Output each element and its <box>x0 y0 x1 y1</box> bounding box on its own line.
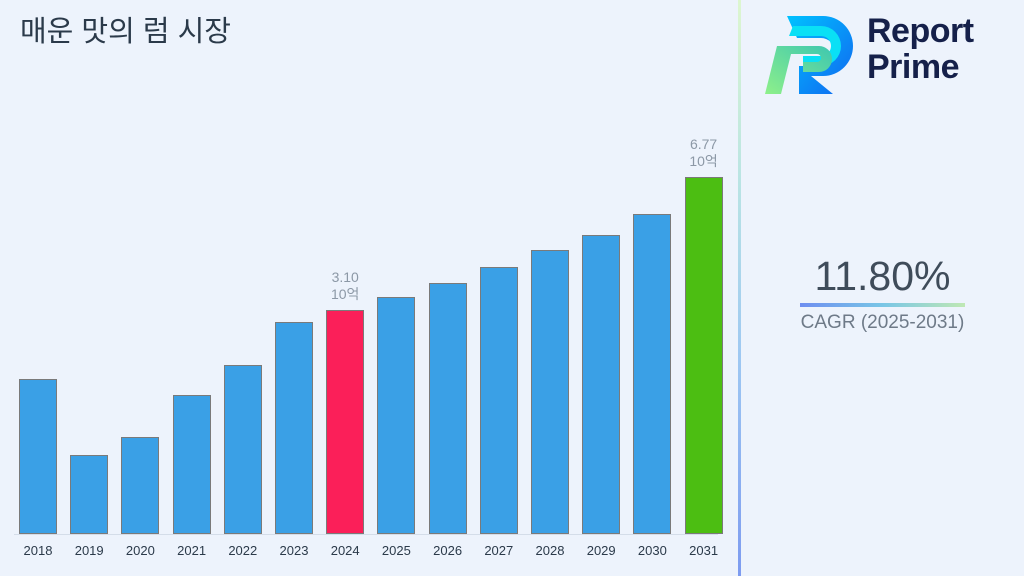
x-axis-line <box>14 534 718 535</box>
bar-2027[interactable] <box>480 267 518 534</box>
logo-line-2: Prime <box>867 49 974 85</box>
cagr-caption: CAGR (2025-2031) <box>741 312 1024 334</box>
bar-2018[interactable] <box>19 379 57 534</box>
bar-2020[interactable] <box>121 437 159 534</box>
bar-2029[interactable] <box>582 235 620 534</box>
bar-chart-plot: 2018201920202021202220233.1010억202420252… <box>0 0 739 576</box>
cagr-value: 11.80% <box>741 252 1024 300</box>
chart-panel: 매운 맛의 럼 시장 2018201920202021202220233.101… <box>0 0 739 576</box>
logo-line-1: Report <box>867 13 974 49</box>
bar-unit-2024: 10억 <box>305 286 385 303</box>
bar-2031[interactable] <box>685 177 723 534</box>
logo-wordmark: Report Prime <box>867 13 974 85</box>
bar-2028[interactable] <box>531 250 569 534</box>
bar-2030[interactable] <box>633 214 671 534</box>
cagr-divider-rule <box>800 303 965 307</box>
bar-value-2024: 3.10 <box>305 269 385 286</box>
report-prime-logo: Report Prime <box>763 10 1013 100</box>
bar-2026[interactable] <box>429 283 467 534</box>
bar-2025[interactable] <box>377 297 415 534</box>
x-axis-tick-2031: 2031 <box>674 543 734 558</box>
report-prime-logo-mark-icon <box>763 12 863 96</box>
slide-root: 매운 맛의 럼 시장 2018201920202021202220233.101… <box>0 0 1024 576</box>
bar-value-label-2024: 3.1010억 <box>305 269 385 303</box>
bar-unit-2031: 10억 <box>664 153 744 170</box>
brand-panel: Report Prime 11.80% CAGR (2025-2031) <box>741 0 1024 576</box>
bar-value-label-2031: 6.7710억 <box>664 136 744 170</box>
bar-2021[interactable] <box>173 395 211 534</box>
bar-value-2031: 6.77 <box>664 136 744 153</box>
bar-2022[interactable] <box>224 365 262 534</box>
cagr-block: 11.80% CAGR (2025-2031) <box>741 252 1024 334</box>
bar-2023[interactable] <box>275 322 313 534</box>
bar-2019[interactable] <box>70 455 108 534</box>
bar-2024[interactable] <box>326 310 364 534</box>
